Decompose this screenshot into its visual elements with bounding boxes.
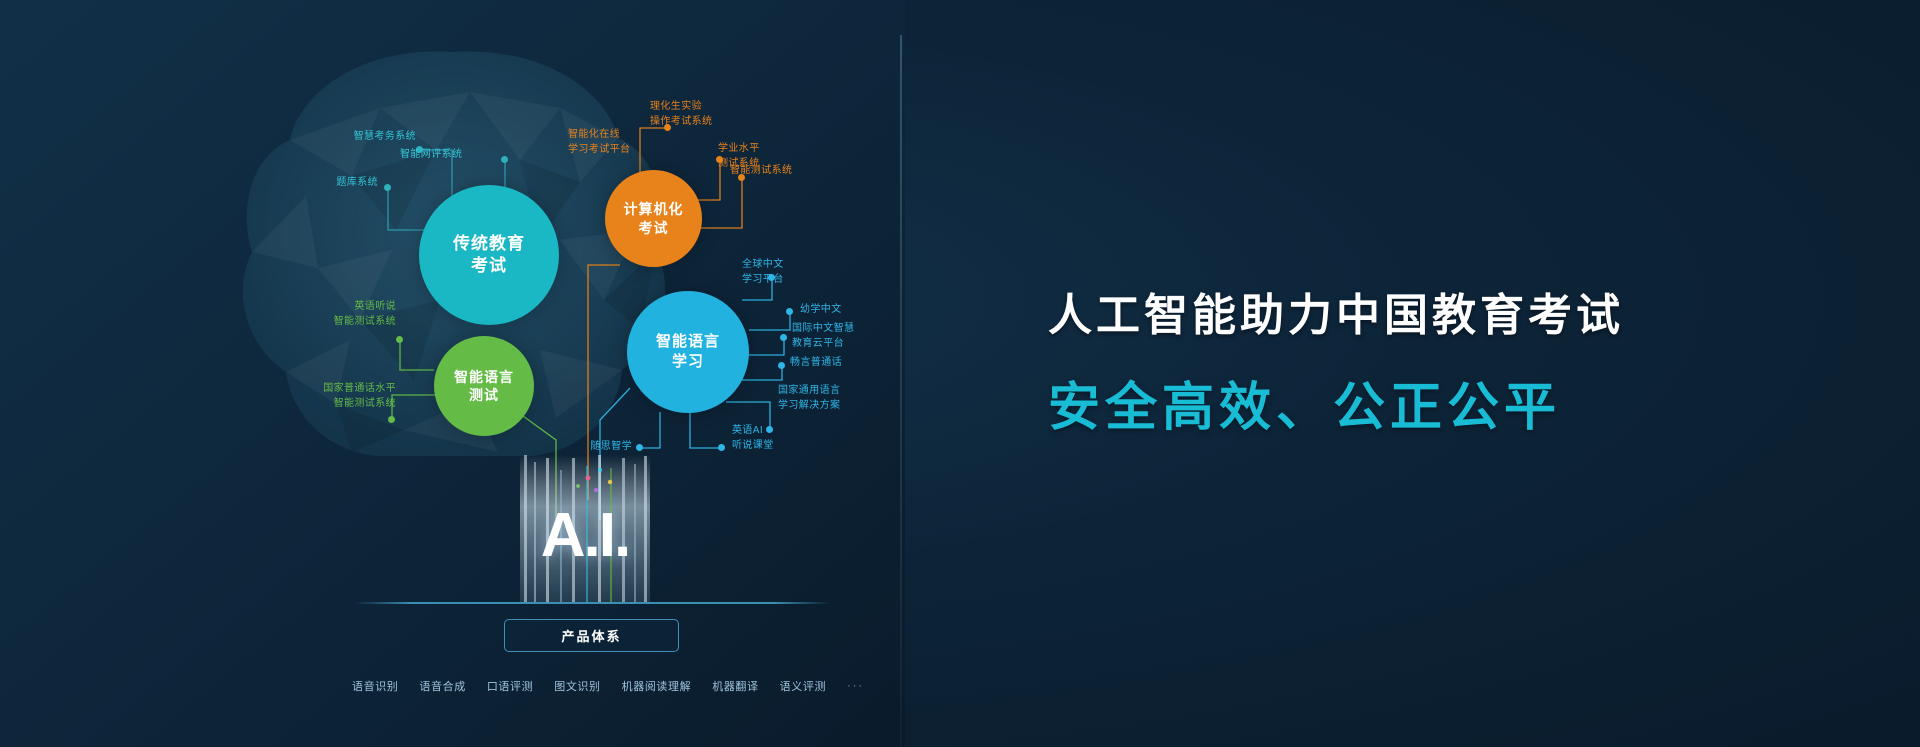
tag-semantic-evaluation[interactable]: 语义评测	[780, 678, 826, 694]
label-english-listening-test-line2: 智能测试系统	[290, 315, 396, 330]
label-intl-chinese-cloud-line2: 教育云平台	[792, 337, 854, 352]
ground-line	[355, 602, 830, 604]
label-putonghua-test-line1: 国家普通话水平	[274, 382, 396, 397]
tag-more-ellipsis[interactable]: ···	[847, 680, 864, 692]
label-putonghua-test-line2: 智能测试系统	[274, 397, 396, 412]
tag-machine-reading-comprehension[interactable]: 机器阅读理解	[622, 678, 692, 694]
label-suisi-zhixue: 随思智学	[566, 440, 632, 455]
bubble-smartlang-line2: 测试	[469, 386, 499, 404]
node-dot-teal-3	[384, 184, 391, 191]
label-national-language-solution: 国家通用语言 学习解决方案	[778, 384, 840, 413]
label-zhineng-wangping-line1: 智能网评系统	[400, 148, 462, 163]
label-youxue-chinese-line1: 幼学中文	[800, 303, 842, 318]
label-zhineng-ceshi: 智能测试系统	[730, 164, 792, 179]
label-lihuasheng-exam-line1: 理化生实验	[650, 100, 712, 115]
node-dot-teal-2	[501, 156, 508, 163]
node-dot-blue-7	[636, 444, 643, 451]
label-zhihui-kaowu: 智慧考务系统	[308, 130, 416, 145]
label-zhihui-kaowu-line1: 智慧考务系统	[308, 130, 416, 145]
label-xueye-shuiping-line1: 学业水平	[718, 142, 760, 157]
product-system-button[interactable]: 产品体系	[504, 619, 679, 652]
bubble-smart-language-testing[interactable]: 智能语言 测试	[434, 336, 534, 436]
tag-oral-evaluation[interactable]: 口语评测	[487, 678, 533, 694]
node-dot-blue-4	[778, 362, 785, 369]
bubble-traditional-line1: 传统教育	[453, 233, 525, 255]
label-english-listening-test: 英语听说 智能测试系统	[290, 300, 396, 329]
bubble-traditional-line2: 考试	[471, 255, 507, 277]
capability-tag-list: 语音识别 语音合成 口语评测 图文识别 机器阅读理解 机器翻译 语义评测 ···	[352, 675, 832, 697]
hero-copy: 人工智能助力中国教育考试 安全高效、公正公平	[1048, 288, 1748, 439]
label-english-ai-classroom: 英语AI 听说课堂	[732, 424, 774, 453]
bubble-langlearn-line2: 学习	[672, 352, 704, 372]
label-online-learning-platform: 智能化在线 学习考试平台	[568, 128, 630, 157]
hero-headline: 人工智能助力中国教育考试	[1048, 288, 1748, 343]
label-english-listening-test-line1: 英语听说	[290, 300, 396, 315]
label-english-ai-classroom-line2: 听说课堂	[732, 439, 774, 454]
label-zhineng-wangping: 智能网评系统	[400, 148, 462, 163]
label-tiku-system: 题库系统	[286, 176, 378, 191]
bubble-langlearn-line1: 智能语言	[656, 332, 720, 352]
label-global-chinese-platform-line1: 全球中文	[742, 258, 784, 273]
tag-speech-recognition[interactable]: 语音识别	[352, 678, 398, 694]
hero-subheadline: 安全高效、公正公平	[1048, 377, 1748, 439]
ai-logo: A.I.	[520, 495, 650, 575]
node-dot-green-2	[388, 416, 395, 423]
ai-education-diagram: 传统教育 考试 计算机化 考试 智能语言 测试 智能语言 学习	[0, 0, 905, 747]
label-zhineng-ceshi-line1: 智能测试系统	[730, 164, 792, 179]
tag-speech-synthesis[interactable]: 语音合成	[419, 678, 465, 694]
bubble-computer-line1: 计算机化	[624, 200, 684, 218]
bubble-computerized-exam[interactable]: 计算机化 考试	[605, 170, 702, 267]
label-changyan-putonghua-line1: 畅言普通话	[790, 356, 842, 371]
label-intl-chinese-cloud-line1: 国际中文智慧	[792, 322, 854, 337]
tag-machine-translation[interactable]: 机器翻译	[712, 678, 758, 694]
bubble-smart-language-learning[interactable]: 智能语言 学习	[627, 291, 749, 413]
hero-banner: 传统教育 考试 计算机化 考试 智能语言 测试 智能语言 学习	[0, 0, 1920, 747]
node-dot-blue-6	[718, 444, 725, 451]
node-dot-green-1	[396, 336, 403, 343]
label-lihuasheng-exam: 理化生实验 操作考试系统	[650, 100, 712, 129]
label-english-ai-classroom-line1: 英语AI	[732, 424, 774, 439]
label-intl-chinese-cloud: 国际中文智慧 教育云平台	[792, 322, 854, 351]
panel-divider	[900, 35, 902, 747]
node-dot-blue-2	[786, 308, 793, 315]
bubble-computer-line2: 考试	[639, 219, 669, 237]
tag-image-text-recognition[interactable]: 图文识别	[554, 678, 600, 694]
label-global-chinese-platform: 全球中文 学习平台	[742, 258, 784, 287]
label-lihuasheng-exam-line2: 操作考试系统	[650, 115, 712, 130]
label-national-language-solution-line2: 学习解决方案	[778, 399, 840, 414]
label-putonghua-test: 国家普通话水平 智能测试系统	[274, 382, 396, 411]
label-changyan-putonghua: 畅言普通话	[790, 356, 842, 371]
bubble-traditional-education-exam[interactable]: 传统教育 考试	[419, 185, 559, 325]
label-online-learning-platform-line2: 学习考试平台	[568, 143, 630, 158]
label-national-language-solution-line1: 国家通用语言	[778, 384, 840, 399]
node-dot-blue-3	[780, 334, 787, 341]
label-global-chinese-platform-line2: 学习平台	[742, 273, 784, 288]
label-suisi-zhixue-line1: 随思智学	[566, 440, 632, 455]
label-online-learning-platform-line1: 智能化在线	[568, 128, 630, 143]
label-tiku-system-line1: 题库系统	[286, 176, 378, 191]
label-youxue-chinese: 幼学中文	[800, 303, 842, 318]
bubble-smartlang-line1: 智能语言	[454, 368, 514, 386]
